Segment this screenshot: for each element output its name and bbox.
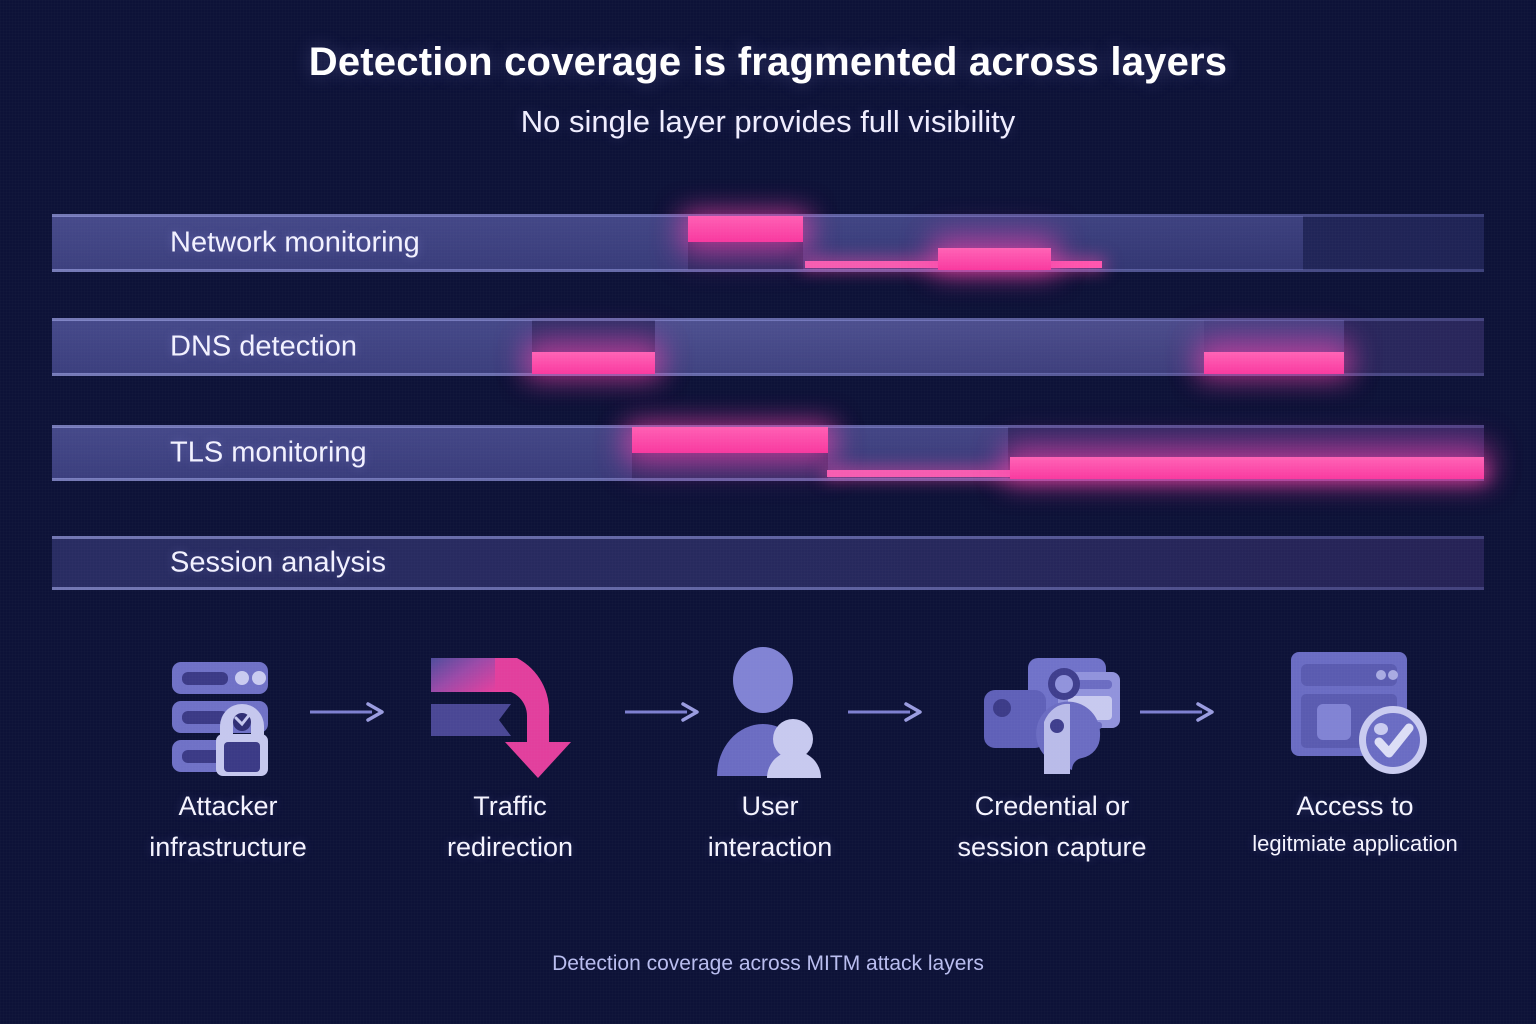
traffic-redirect-arrow-icon <box>400 636 620 786</box>
flow-step-user-interaction[interactable]: User interaction <box>660 636 880 868</box>
flow-step-label-line1: User <box>660 786 880 827</box>
coverage-row-session-analysis[interactable]: Session analysis <box>52 536 1484 590</box>
arrow-right-icon <box>1140 702 1216 722</box>
attack-flow-strip: Attacker infrastructure <box>0 636 1536 926</box>
browser-check-icon <box>1210 636 1500 786</box>
flow-step-label-line2: infrastructure <box>118 827 338 868</box>
coverage-row-label: Session analysis <box>170 547 386 580</box>
flow-step-label-line2: redirection <box>400 827 620 868</box>
coverage-panel <box>655 320 1204 374</box>
flow-step-label: Traffic redirection <box>400 786 620 868</box>
arrow-right-icon <box>310 702 386 722</box>
coverage-row-network-monitoring[interactable]: Network monitoring <box>52 214 1484 272</box>
coverage-row-label: TLS monitoring <box>170 437 367 470</box>
row-rule-top <box>52 536 1484 539</box>
arrow-right-icon <box>848 702 924 722</box>
flow-step-label: User interaction <box>660 786 880 868</box>
flow-step-label-line1: Credential or <box>942 786 1162 827</box>
flow-step-credential-capture[interactable]: Credential or session capture <box>942 636 1162 868</box>
flow-step-label-line2: session capture <box>942 827 1162 868</box>
server-lock-icon <box>118 636 338 786</box>
row-rule-top <box>52 318 1484 321</box>
flow-step-label-line2: interaction <box>660 827 880 868</box>
flow-step-label-line1: Access to <box>1210 786 1500 827</box>
flow-step-label: Credential or session capture <box>942 786 1162 868</box>
coverage-row-label: DNS detection <box>170 331 357 364</box>
coverage-marker <box>532 352 655 374</box>
coverage-marker <box>938 248 1051 270</box>
coverage-marker <box>632 427 828 453</box>
flow-step-label-line1: Traffic <box>400 786 620 827</box>
coverage-row-label: Network monitoring <box>170 227 420 260</box>
credential-card-capture-icon <box>942 636 1162 786</box>
flow-step-label: Access to legitmiate application <box>1210 786 1500 860</box>
coverage-marker <box>1204 352 1344 374</box>
flow-step-label-line1: Attacker <box>118 786 338 827</box>
row-rule-bottom <box>52 587 1484 590</box>
flow-step-label: Attacker infrastructure <box>118 786 338 868</box>
flow-step-traffic-redirection[interactable]: Traffic redirection <box>400 636 620 868</box>
flow-step-access-application[interactable]: Access to legitmiate application <box>1210 636 1500 860</box>
coverage-row-tls-monitoring[interactable]: TLS monitoring <box>52 425 1484 481</box>
infographic-canvas: Detection coverage is fragmented across … <box>0 0 1536 1024</box>
row-rule-bottom <box>52 269 1484 272</box>
coverage-rows: Network monitoring DNS detection TLS mon… <box>0 0 1536 620</box>
user-person-icon <box>660 636 880 786</box>
coverage-marker <box>688 216 803 242</box>
footer-caption: Detection coverage across MITM attack la… <box>0 952 1536 976</box>
coverage-marker <box>1010 457 1484 479</box>
flow-step-label-line2: legitmiate application <box>1210 827 1500 860</box>
coverage-row-dns-detection[interactable]: DNS detection <box>52 318 1484 376</box>
flow-step-attacker-infrastructure[interactable]: Attacker infrastructure <box>118 636 338 868</box>
